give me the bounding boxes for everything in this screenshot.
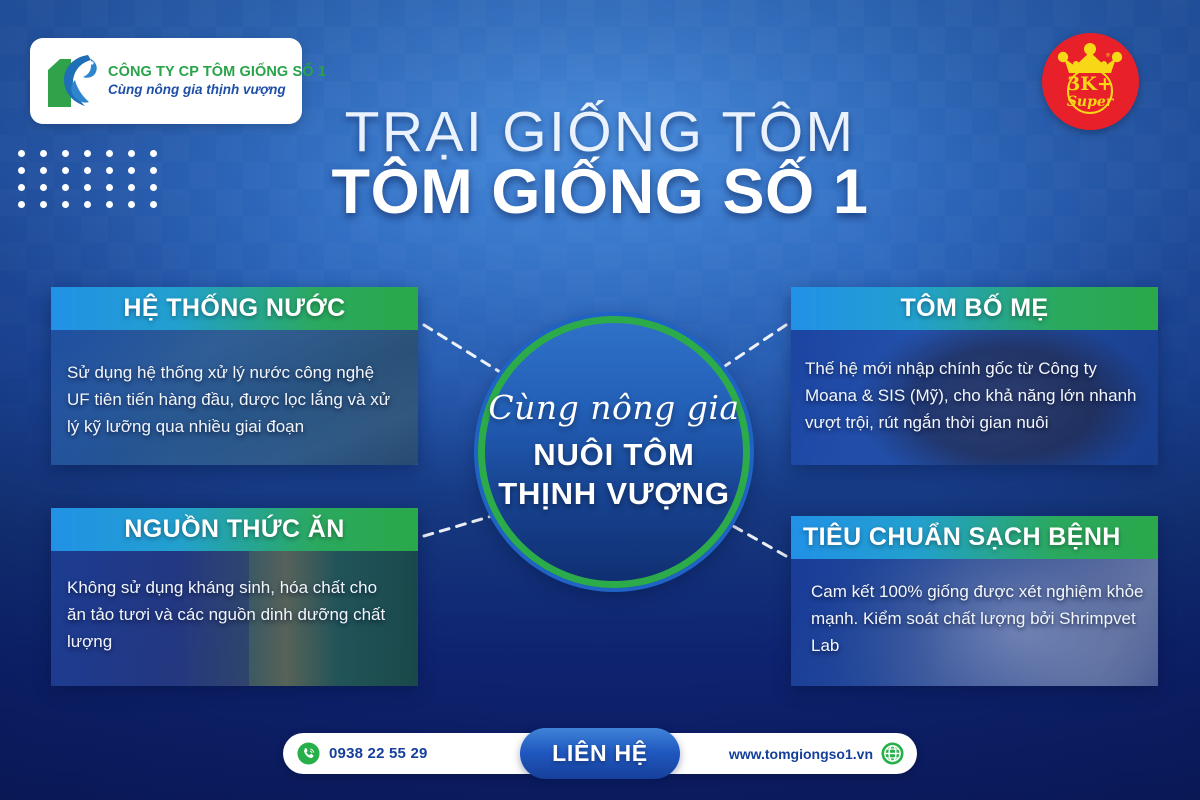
company-name: CÔNG TY CP TÔM GIỐNG SỐ 1 xyxy=(108,64,326,81)
website-group[interactable]: www.tomgiongso1.vn xyxy=(729,742,917,765)
feature-card-body: Cam kết 100% giống được xét nghiệm khỏe … xyxy=(791,559,1158,686)
infographic-poster: CÔNG TY CP TÔM GIỐNG SỐ 1 Cùng nông gia … xyxy=(0,0,1200,800)
center-headline-line1: NUÔI TÔM xyxy=(533,436,694,474)
feature-card-body: Không sử dụng kháng sinh, hóa chất cho ă… xyxy=(51,551,418,686)
feature-card-feed-source[interactable]: NGUỒN THỨC ĂN Không sử dụng kháng sinh, … xyxy=(51,508,418,686)
page-title: TRẠI GIỐNG TÔM TÔM GIỐNG SỐ 1 xyxy=(0,103,1200,226)
globe-icon xyxy=(881,742,904,765)
headline-top-line: TRẠI GIỐNG TÔM xyxy=(0,103,1200,162)
headline-bottom-line: TÔM GIỐNG SỐ 1 xyxy=(0,158,1200,226)
feature-card-description: Cam kết 100% giống được xét nghiệm khỏe … xyxy=(811,579,1144,660)
feature-card-title: HỆ THỐNG NƯỚC xyxy=(51,287,418,330)
center-headline-line2: THỊNH VƯỢNG xyxy=(498,475,729,513)
feature-card-title: TÔM BỐ MẸ xyxy=(791,287,1158,330)
center-script-text: Cùng nông gia xyxy=(488,391,739,424)
svg-text:®: ® xyxy=(1106,52,1111,59)
badge-line1-text: 3K+ xyxy=(1067,73,1113,95)
feature-card-water-system[interactable]: HỆ THỐNG NƯỚC Sử dụng hệ thống xử lý nướ… xyxy=(51,287,418,465)
feature-card-broodstock[interactable]: TÔM BỐ MẸ Thế hệ mới nhập chính gốc từ C… xyxy=(791,287,1158,465)
feature-card-title: NGUỒN THỨC ĂN xyxy=(51,508,418,551)
website-url: www.tomgiongso1.vn xyxy=(729,746,873,762)
feature-card-body: Sử dụng hệ thống xử lý nước công nghệ UF… xyxy=(51,330,418,465)
feature-card-description: Sử dụng hệ thống xử lý nước công nghệ UF… xyxy=(67,360,400,441)
feature-card-description: Không sử dụng kháng sinh, hóa chất cho ă… xyxy=(67,575,400,656)
feature-card-description: Thế hệ mới nhập chính gốc từ Công ty Moa… xyxy=(805,356,1144,437)
center-emblem: Cùng nông gia NUÔI TÔM THỊNH VƯỢNG xyxy=(478,316,750,588)
company-slogan: Cùng nông gia thịnh vượng xyxy=(108,82,326,98)
phone-icon xyxy=(297,742,320,765)
feature-card-disease-free[interactable]: TIÊU CHUẨN SẠCH BỆNH Cam kết 100% giống … xyxy=(791,516,1158,686)
contact-footer-bar: 0938 22 55 29 LIÊN HỆ www.tomgiongso1.vn xyxy=(283,733,917,774)
feature-card-body: Thế hệ mới nhập chính gốc từ Công ty Moa… xyxy=(791,330,1158,465)
feature-card-title: TIÊU CHUẨN SẠCH BỆNH xyxy=(791,516,1158,559)
phone-number: 0938 22 55 29 xyxy=(329,745,428,762)
logo-text-block: CÔNG TY CP TÔM GIỐNG SỐ 1 Cùng nông gia … xyxy=(108,64,326,98)
contact-cta-button[interactable]: LIÊN HỆ xyxy=(520,728,680,779)
phone-contact-group[interactable]: 0938 22 55 29 xyxy=(283,742,428,765)
